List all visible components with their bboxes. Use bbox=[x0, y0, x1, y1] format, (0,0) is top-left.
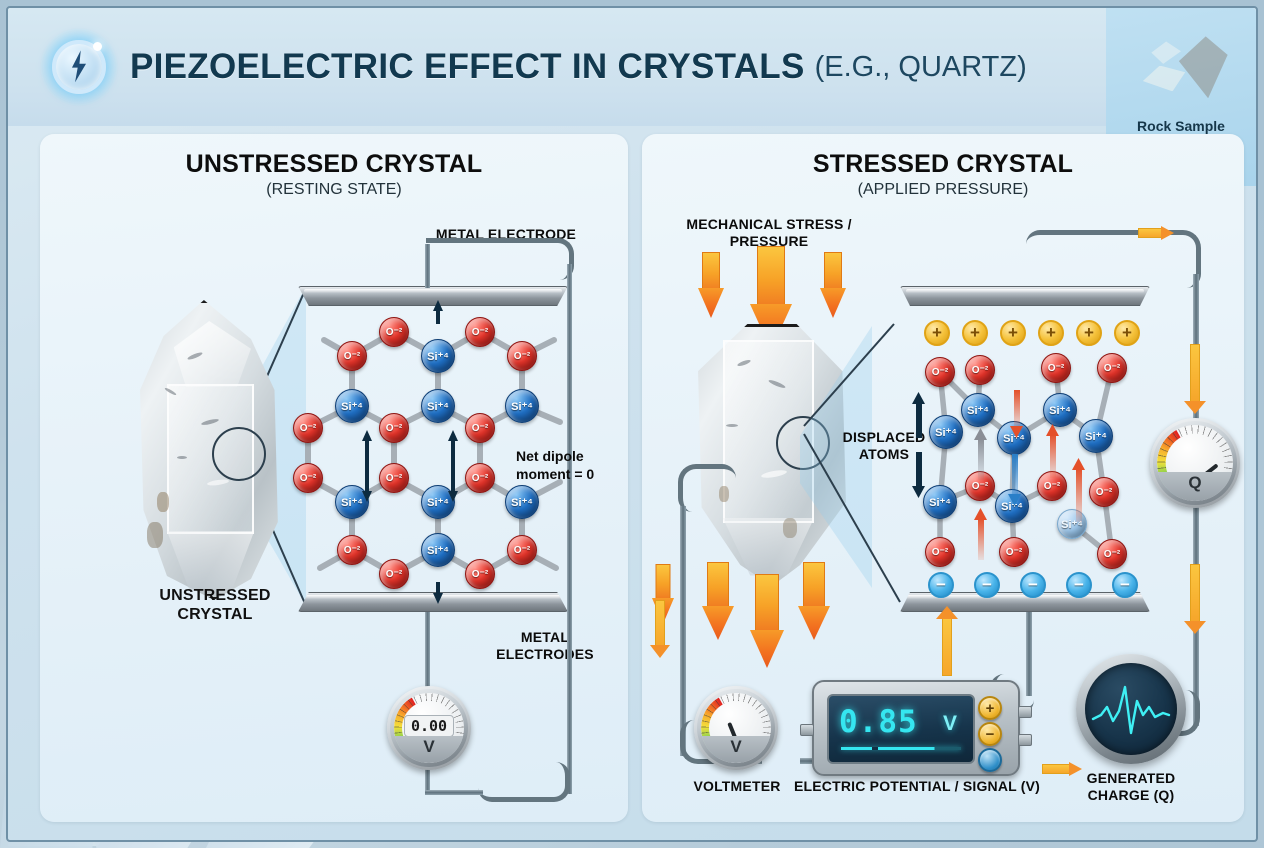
negative-charge: − bbox=[974, 572, 1000, 598]
atom-oxygen: O⁻² bbox=[507, 341, 537, 371]
atom-silicon: Si⁺⁴ bbox=[1043, 393, 1077, 427]
panel-stressed-crystal: STRESSED CRYSTAL (APPLIED PRESSURE) MECH… bbox=[642, 134, 1244, 822]
pressure-arrow-bottom-1 bbox=[702, 562, 734, 640]
digital-display-value: 0.85 bbox=[839, 704, 918, 740]
atom-oxygen: O⁻² bbox=[293, 413, 323, 443]
positive-charge: + bbox=[962, 320, 988, 346]
oscilloscope-generated-charge[interactable] bbox=[1076, 654, 1186, 764]
terminal-right-bottom bbox=[1018, 734, 1032, 746]
charge-gauge-q[interactable]: Q bbox=[1150, 418, 1240, 508]
lightning-bolt-icon bbox=[52, 40, 106, 94]
dipole-arrow-top bbox=[433, 300, 443, 334]
atom-oxygen: O⁻² bbox=[999, 537, 1029, 567]
atom-oxygen: O⁻² bbox=[1089, 477, 1119, 507]
atom-oxygen: O⁻² bbox=[379, 463, 409, 493]
label-generated-charge: GENERATED CHARGE (Q) bbox=[1066, 770, 1196, 804]
digital-display-screen: 0.85 V bbox=[827, 694, 975, 764]
label-electric-potential: ELECTRIC POTENTIAL / SIGNAL (V) bbox=[790, 778, 1044, 795]
diagram-canvas: PIEZOELECTRIC EFFECT IN CRYSTALS (E.G., … bbox=[0, 0, 1264, 848]
negative-charge: − bbox=[928, 572, 954, 598]
terminal-left bbox=[800, 724, 814, 736]
atom-oxygen: O⁻² bbox=[465, 559, 495, 589]
atom-silicon: Si⁺⁴ bbox=[505, 485, 539, 519]
plus-button[interactable]: + bbox=[978, 696, 1002, 720]
atom-oxygen: O⁻² bbox=[337, 535, 367, 565]
magnifier-lens-unstressed bbox=[212, 427, 266, 481]
positive-charge: + bbox=[1076, 320, 1102, 346]
wire-left-corner bbox=[678, 464, 736, 512]
label-voltmeter: VOLTMETER bbox=[682, 778, 792, 795]
atom-oxygen: O⁻² bbox=[925, 357, 955, 387]
atom-oxygen: O⁻² bbox=[379, 559, 409, 589]
wire-bottom-horizontal bbox=[425, 790, 483, 795]
atom-oxygen: O⁻² bbox=[337, 341, 367, 371]
atom-oxygen: O⁻² bbox=[1097, 539, 1127, 569]
atom-oxygen: O⁻² bbox=[507, 535, 537, 565]
label-metal-electrodes-bottom: METAL ELECTRODES bbox=[470, 629, 620, 663]
current-flow-arrow-right-upper bbox=[1184, 344, 1206, 414]
atom-silicon: Si⁺⁴ bbox=[421, 339, 455, 373]
mode-button[interactable] bbox=[978, 748, 1002, 772]
page-title: PIEZOELECTRIC EFFECT IN CRYSTALS bbox=[130, 47, 805, 87]
pressure-arrow-top-right bbox=[820, 252, 846, 318]
atom-oxygen: O⁻² bbox=[379, 317, 409, 347]
crystal-lattice-unstressed: O⁻² O⁻² O⁻² O⁻² Si⁺⁴ Si⁺⁴ Si⁺⁴ Si⁺⁴ O⁻² … bbox=[298, 310, 578, 590]
panel-title-unstressed: UNSTRESSED CRYSTAL bbox=[40, 150, 628, 179]
atom-oxygen: O⁻² bbox=[1041, 353, 1071, 383]
atom-silicon: Si⁺⁴ bbox=[421, 389, 455, 423]
positive-charge: + bbox=[1114, 320, 1140, 346]
panel-unstressed-crystal: UNSTRESSED CRYSTAL (RESTING STATE) UNSTR… bbox=[40, 134, 628, 822]
panel-subtitle-unstressed: (RESTING STATE) bbox=[40, 181, 628, 199]
electrode-top-right-panel bbox=[900, 286, 1150, 306]
voltmeter-value: 0.00 bbox=[411, 717, 447, 735]
crystal-lattice-stressed: + + + + + + O⁻² O⁻² O⁻² O⁻² Si⁺⁴ Si⁺⁴ Si… bbox=[900, 310, 1150, 600]
atom-silicon: Si⁺⁴ bbox=[1079, 419, 1113, 453]
voltmeter-unit: V bbox=[394, 736, 464, 763]
atom-silicon: Si⁺⁴ bbox=[929, 415, 963, 449]
page-title-subtitle: (E.G., QUARTZ) bbox=[815, 51, 1027, 84]
voltmeter-lcd: 0.00 bbox=[404, 715, 454, 737]
negative-charge: − bbox=[1112, 572, 1138, 598]
negative-charge: − bbox=[1020, 572, 1046, 598]
displacement-arrow-blue-down bbox=[1008, 454, 1021, 506]
digital-display-unit: V bbox=[943, 712, 957, 736]
atom-oxygen: O⁻² bbox=[379, 413, 409, 443]
wire-top-right-corner bbox=[1026, 230, 1201, 288]
atom-silicon: Si⁺⁴ bbox=[505, 389, 539, 423]
wire-top-corner bbox=[426, 238, 574, 280]
atom-oxygen: O⁻² bbox=[293, 463, 323, 493]
displacement-arrow-red-up bbox=[1046, 424, 1059, 478]
current-flow-arrow-right-lower bbox=[1184, 564, 1206, 634]
minus-button[interactable]: − bbox=[978, 722, 1002, 746]
digital-display-bargraph bbox=[841, 747, 961, 750]
atom-silicon: Si⁺⁴ bbox=[961, 393, 995, 427]
current-flow-arrow-center-up bbox=[936, 606, 958, 676]
wire-bottom-right-corner bbox=[478, 762, 570, 802]
displacement-arrow-red-down bbox=[1010, 390, 1023, 438]
pressure-arrow-top-left bbox=[698, 252, 724, 318]
dipole-arrow-middle-center bbox=[448, 430, 458, 502]
atom-oxygen: O⁻² bbox=[465, 317, 495, 347]
displacement-arrow-navy-up bbox=[912, 392, 925, 438]
positive-charge: + bbox=[1038, 320, 1064, 346]
panel-subtitle-stressed: (APPLIED PRESSURE) bbox=[642, 181, 1244, 199]
wire-left-vertical bbox=[680, 506, 686, 756]
voltmeter-unstressed[interactable]: 0.00 V bbox=[387, 686, 471, 770]
rock-sample-name: Rock Sample bbox=[1137, 118, 1225, 134]
atom-oxygen: O⁻² bbox=[465, 413, 495, 443]
displacement-arrow-grey-up bbox=[974, 428, 987, 480]
dipole-arrow-bottom bbox=[433, 572, 443, 604]
atom-oxygen: O⁻² bbox=[925, 537, 955, 567]
atom-oxygen: O⁻² bbox=[1097, 353, 1127, 383]
displacement-arrow-red-up bbox=[974, 508, 987, 560]
pressure-arrow-bottom-2 bbox=[750, 574, 784, 668]
displacement-arrow-navy-down bbox=[912, 452, 925, 498]
charge-gauge-unit: Q bbox=[1157, 472, 1233, 501]
dipole-arrow-middle-left bbox=[362, 430, 372, 502]
displacement-arrow-red-up bbox=[1072, 458, 1085, 522]
atom-silicon: Si⁺⁴ bbox=[923, 485, 957, 519]
crystal-caption-unstressed: UNSTRESSED CRYSTAL bbox=[110, 586, 320, 624]
voltmeter-unit: V bbox=[701, 736, 771, 763]
header-bar: PIEZOELECTRIC EFFECT IN CRYSTALS (E.G., … bbox=[8, 8, 1256, 126]
positive-charge: + bbox=[924, 320, 950, 346]
current-flow-arrow-left bbox=[650, 600, 670, 658]
pressure-arrow-bottom-3 bbox=[798, 562, 830, 640]
negative-charge: − bbox=[1066, 572, 1092, 598]
label-mechanical-stress: MECHANICAL STRESS / PRESSURE bbox=[664, 216, 874, 250]
waveform bbox=[1091, 681, 1171, 739]
atom-silicon: Si⁺⁴ bbox=[421, 533, 455, 567]
positive-charge: + bbox=[1000, 320, 1026, 346]
rock-icon bbox=[1128, 26, 1234, 112]
current-flow-arrow-top bbox=[1138, 226, 1174, 240]
panel-title-stressed: STRESSED CRYSTAL bbox=[642, 150, 1244, 179]
net-dipole-annotation: Net dipole moment = 0 bbox=[516, 448, 626, 483]
atom-oxygen: O⁻² bbox=[965, 355, 995, 385]
voltmeter-stressed[interactable]: V bbox=[694, 686, 778, 770]
atom-oxygen: O⁻² bbox=[465, 463, 495, 493]
atom-silicon: Si⁺⁴ bbox=[335, 389, 369, 423]
terminal-right-top bbox=[1018, 706, 1032, 718]
digital-voltmeter[interactable]: 0.85 V + − bbox=[812, 680, 1020, 776]
